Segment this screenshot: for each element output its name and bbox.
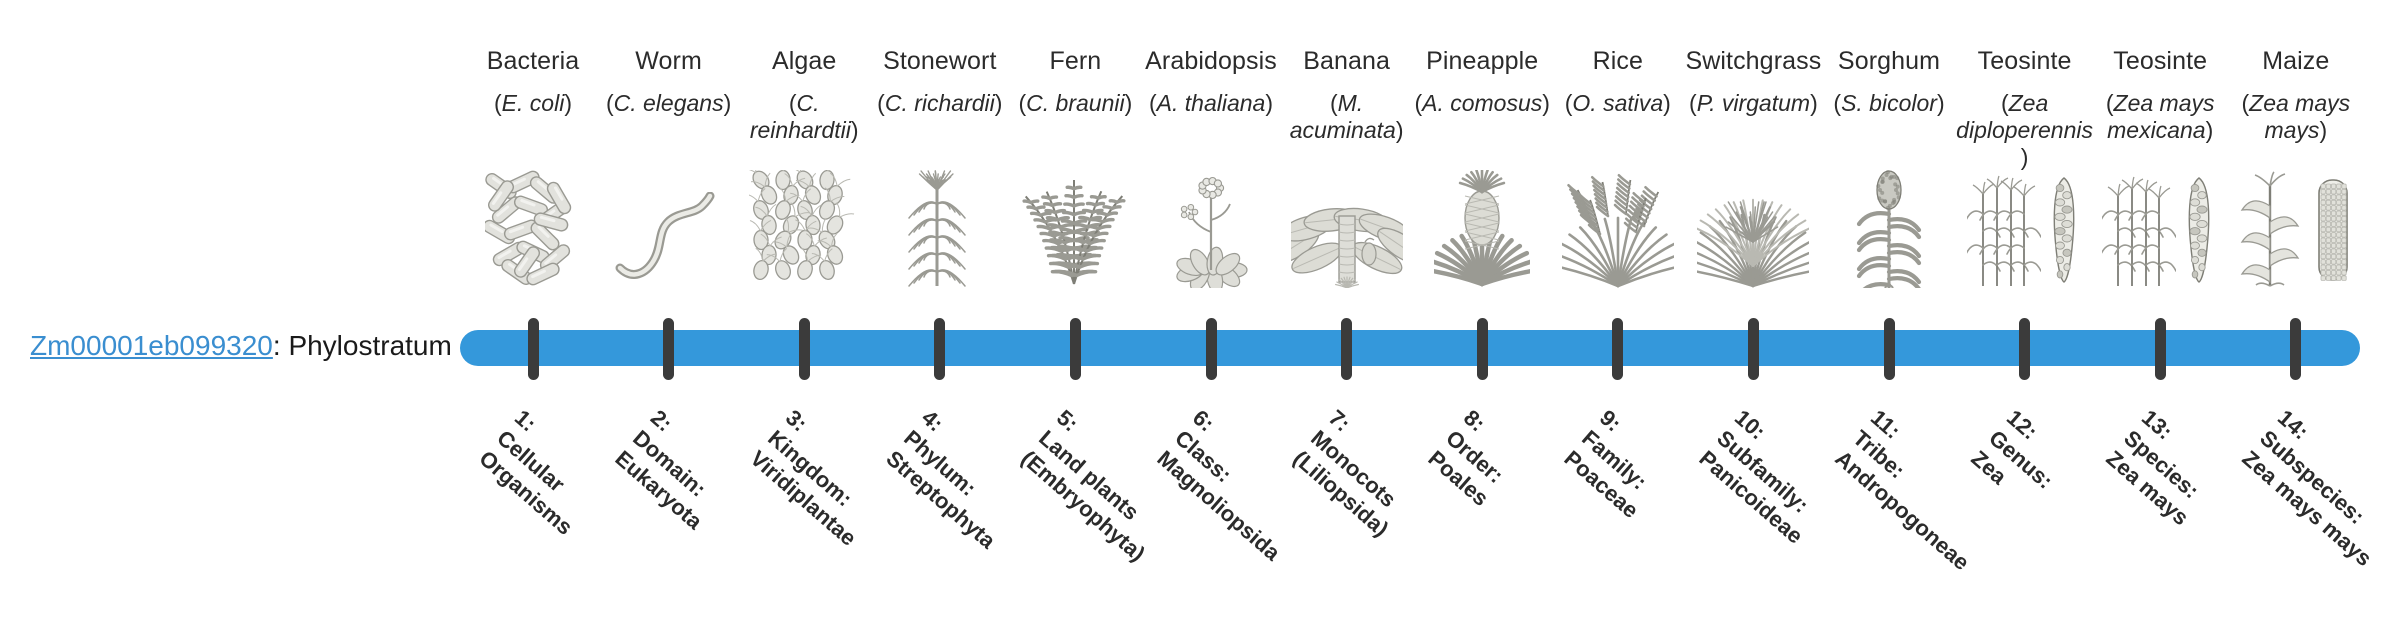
species-column: Maize (Zea mays mays) xyxy=(2226,46,2366,144)
gene-row-label: Zm00001eb099320: Phylostratum 1 xyxy=(30,330,475,362)
phylostratum-tick xyxy=(528,318,539,380)
species-scientific-name: (S. bicolor) xyxy=(1819,90,1959,117)
fern-icon xyxy=(1000,170,1150,288)
species-common-name: Algae xyxy=(734,46,874,76)
species-column: Rice (O. sativa) xyxy=(1548,46,1688,117)
species-common-name: Arabidopsis xyxy=(1141,46,1281,76)
phylostratum-tick xyxy=(799,318,810,380)
gene-id-link[interactable]: Zm00001eb099320 xyxy=(30,330,273,361)
species-column: Teosinte (Zea diploperennis) xyxy=(1955,46,2095,171)
algae-icon xyxy=(729,170,879,288)
species-common-name: Teosinte xyxy=(1955,46,2095,76)
sorghum-icon xyxy=(1814,170,1964,288)
species-common-name: Banana xyxy=(1277,46,1417,76)
phylostratum-tick xyxy=(2019,318,2030,380)
species-scientific-name: (C. braunii) xyxy=(1005,90,1145,117)
phylostratum-tick xyxy=(663,318,674,380)
maize-icon xyxy=(2221,170,2371,288)
species-scientific-name: (A. thaliana) xyxy=(1141,90,1281,117)
phylostratum-tick xyxy=(1206,318,1217,380)
stonewort-icon xyxy=(865,170,1015,288)
phylostratum-tick xyxy=(1612,318,1623,380)
species-column: Pineapple (A. comosus) xyxy=(1412,46,1552,117)
species-common-name: Pineapple xyxy=(1412,46,1552,76)
species-scientific-name: (O. sativa) xyxy=(1548,90,1688,117)
phylostratum-tick xyxy=(1884,318,1895,380)
species-column: Teosinte (Zea mays mexicana) xyxy=(2090,46,2230,144)
species-common-name: Rice xyxy=(1548,46,1688,76)
worm-icon xyxy=(594,170,744,288)
species-column: Bacteria (E. coli) xyxy=(463,46,603,117)
species-column: Stonewort (C. richardii) xyxy=(870,46,1010,117)
species-scientific-name: (M. acuminata) xyxy=(1277,90,1417,144)
species-scientific-name: (C. elegans) xyxy=(599,90,739,117)
phylostratum-tick xyxy=(1748,318,1759,380)
banana-icon xyxy=(1272,170,1422,288)
species-scientific-name: (C. reinhardtii) xyxy=(734,90,874,144)
rice-icon xyxy=(1543,170,1693,288)
species-column: Sorghum (S. bicolor) xyxy=(1819,46,1959,117)
switchgrass-icon xyxy=(1678,170,1828,288)
phylostratum-tick xyxy=(934,318,945,380)
species-column: Worm (C. elegans) xyxy=(599,46,739,117)
species-column: Banana (M. acuminata) xyxy=(1277,46,1417,144)
phylostratum-tick xyxy=(1341,318,1352,380)
phylostratum-tick xyxy=(1070,318,1081,380)
species-scientific-name: (P. virgatum) xyxy=(1683,90,1823,117)
phylostratum-tick xyxy=(2155,318,2166,380)
species-column: Arabidopsis (A. thaliana) xyxy=(1141,46,1281,117)
species-common-name: Switchgrass xyxy=(1683,46,1823,76)
phylostratum-tick xyxy=(2290,318,2301,380)
species-column: Switchgrass (P. virgatum) xyxy=(1683,46,1823,117)
phylostratum-chart: Zm00001eb099320: Phylostratum 1 Bacteria… xyxy=(0,0,2400,580)
species-scientific-name: (E. coli) xyxy=(463,90,603,117)
teosinte-diploperennis-icon xyxy=(1950,170,2100,288)
bacteria-icon xyxy=(458,170,608,288)
species-scientific-name: (Zea mays mexicana) xyxy=(2090,90,2230,144)
teosinte-mexicana-icon xyxy=(2085,170,2235,288)
species-common-name: Maize xyxy=(2226,46,2366,76)
arabidopsis-icon xyxy=(1136,170,1286,288)
species-scientific-name: (A. comosus) xyxy=(1412,90,1552,117)
species-column: Fern (C. braunii) xyxy=(1005,46,1145,117)
phylostratum-track-bar[interactable] xyxy=(460,330,2360,366)
species-common-name: Worm xyxy=(599,46,739,76)
species-scientific-name: (Zea diploperennis) xyxy=(1955,90,2095,171)
gene-phylostratum-text: : Phylostratum 1 xyxy=(273,330,475,361)
pineapple-icon xyxy=(1407,170,1557,288)
species-common-name: Fern xyxy=(1005,46,1145,76)
species-scientific-name: (Zea mays mays) xyxy=(2226,90,2366,144)
species-column: Algae (C. reinhardtii) xyxy=(734,46,874,144)
species-common-name: Stonewort xyxy=(870,46,1010,76)
species-common-name: Bacteria xyxy=(463,46,603,76)
species-common-name: Teosinte xyxy=(2090,46,2230,76)
species-scientific-name: (C. richardii) xyxy=(870,90,1010,117)
phylostratum-tick xyxy=(1477,318,1488,380)
species-common-name: Sorghum xyxy=(1819,46,1959,76)
